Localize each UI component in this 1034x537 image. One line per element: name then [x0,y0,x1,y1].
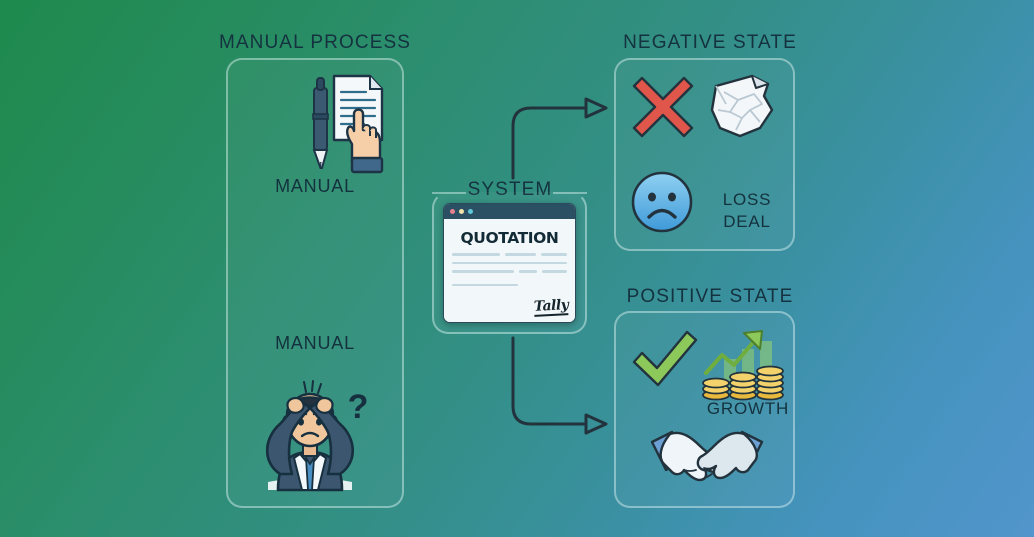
crumpled-paper-icon [706,70,778,142]
window-titlebar [444,204,575,219]
quotation-window[interactable]: QUOTATION Tally [443,203,576,323]
stressed-person-illustration: ? [240,362,380,494]
label-positive-state: POSITIVE STATE [590,286,830,308]
growth-chart-illustration [700,325,786,403]
caption-manual-bottom: MANUAL [226,333,404,354]
caption-growth: GROWTH [700,399,796,419]
window-body: QUOTATION Tally [444,219,575,322]
quotation-line [452,262,567,265]
system-to-negative-arrow [513,99,606,178]
tally-brand-logo: Tally [533,298,568,317]
handshake-icon [648,420,766,494]
label-negative-state: NEGATIVE STATE [590,32,830,54]
quotation-line-row [452,253,567,256]
quotation-title: QUOTATION [452,229,567,247]
window-dot-minimize[interactable] [459,209,464,214]
diagram-canvas: MANUAL PROCESS SYSTEM NEGATIVE STATE POS… [0,0,1034,537]
caption-loss-deal: LOSS DEAL [702,189,792,233]
sad-face-icon [630,170,694,234]
pen-icon [313,78,328,169]
window-dot-close[interactable] [450,209,455,214]
green-checkmark-icon [630,328,700,394]
caption-deal: DEAL [723,212,771,231]
manual-entry-illustration [296,70,388,175]
red-cross-icon [628,72,698,142]
stressed-person-icon [267,381,353,490]
quotation-line [452,284,518,287]
label-manual-process: MANUAL PROCESS [195,32,435,54]
system-to-positive-arrow [513,338,606,433]
caption-manual-top: MANUAL [226,176,404,197]
caption-loss: LOSS [723,190,772,209]
quotation-line-row [452,270,567,273]
question-mark-icon: ? [348,388,369,426]
window-dot-maximize[interactable] [468,209,473,214]
